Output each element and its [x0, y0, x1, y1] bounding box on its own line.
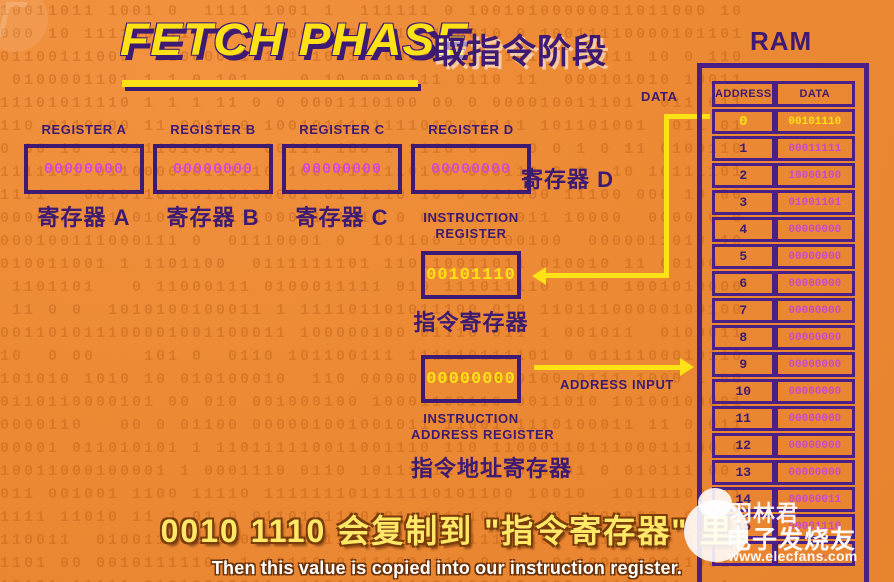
instruction-register-value-box: 00101110 — [421, 251, 521, 299]
caption-english: Then this value is copied into our instr… — [0, 558, 894, 579]
ram-table-row[interactable]: 1100000000 — [712, 406, 855, 431]
register-c: REGISTER C 00000000 寄存器 C — [282, 122, 402, 232]
register-d-value-box: 00000000 — [411, 144, 531, 194]
instruction-register: INSTRUCTION REGISTER 00101110 指令寄存器 — [411, 210, 531, 337]
ram-cell-address: 1 — [712, 136, 775, 161]
instruction-address-register-label-line1: INSTRUCTION — [411, 411, 531, 427]
register-a-label: REGISTER A — [24, 122, 144, 137]
register-c-value: 00000000 — [302, 161, 382, 178]
register-a-chinese-label: 寄存器 A — [24, 200, 144, 232]
ram-cell-address: 7 — [712, 298, 775, 323]
register-a-value: 00000000 — [44, 161, 124, 178]
title-chinese: 取指令阶段 — [432, 24, 607, 73]
ram-cell-address: 13 — [712, 460, 775, 485]
ram-cell-address: 11 — [712, 406, 775, 431]
instruction-register-label-line1: INSTRUCTION — [411, 210, 531, 226]
ram-cell-data: 00000000 — [775, 460, 855, 485]
ram-table-row[interactable]: 1200000000 — [712, 433, 855, 458]
ram-table-row[interactable]: 301001101 — [712, 190, 855, 215]
ram-cell-address: 8 — [712, 325, 775, 350]
register-b: REGISTER B 00000000 寄存器 B — [153, 122, 273, 232]
ram-cell-address: 5 — [712, 244, 775, 269]
register-b-chinese-label: 寄存器 B — [153, 200, 273, 232]
title-block: FETCH PHASE — [120, 14, 449, 66]
address-input-arrowhead — [680, 358, 694, 376]
register-a: REGISTER A 00000000 寄存器 A — [24, 122, 144, 232]
instruction-register-chinese-label: 指令寄存器 — [411, 305, 531, 337]
ram-table-row[interactable]: 1000000000 — [712, 379, 855, 404]
ram-cell-address: 12 — [712, 433, 775, 458]
ram-cell-data: 00000000 — [775, 433, 855, 458]
ram-header-address: ADDRESS — [712, 81, 775, 107]
title-underline — [122, 80, 418, 87]
ram-cell-address: 9 — [712, 352, 775, 377]
register-c-value-box: 00000000 — [282, 144, 402, 194]
ram-header-data: DATA — [775, 81, 855, 107]
register-d-chinese-label: 寄存器 D — [521, 162, 614, 194]
data-wire-label: DATA — [641, 89, 678, 104]
caption-chinese: 0010 1110 会复制到 "指令寄存器" 里 — [0, 506, 894, 552]
register-d-label: REGISTER D — [411, 122, 531, 137]
ram-cell-data: 00000000 — [775, 379, 855, 404]
ram-table-row[interactable]: 210000100 — [712, 163, 855, 188]
ram-title: RAM — [750, 26, 812, 57]
data-wire-arrowhead — [532, 267, 546, 285]
title-english: FETCH PHASE — [120, 14, 468, 66]
ram-cell-data: 00000000 — [775, 352, 855, 377]
corner-logo-watermark — [0, 0, 48, 52]
register-c-label: REGISTER C — [282, 122, 402, 137]
register-a-value-box: 00000000 — [24, 144, 144, 194]
instruction-address-register-chinese-label: 指令地址寄存器 — [411, 451, 531, 483]
ram-cell-data: 00000000 — [775, 325, 855, 350]
instruction-address-register-label-line2: ADDRESS REGISTER — [411, 427, 531, 443]
ram-table-row[interactable]: 100011111 — [712, 136, 855, 161]
ram-table: ADDRESSDATA00010111010001111121000010030… — [712, 79, 855, 568]
ram-table-row[interactable]: 400000000 — [712, 217, 855, 242]
ram-cell-data: 00000000 — [775, 271, 855, 296]
ram-cell-address: 6 — [712, 271, 775, 296]
ram-cell-data: 00000000 — [775, 217, 855, 242]
register-d-value: 00000000 — [431, 161, 511, 178]
ram-cell-data: 00000000 — [775, 244, 855, 269]
address-input-wire — [534, 365, 682, 370]
register-b-value: 00000000 — [173, 161, 253, 178]
register-d: REGISTER D 00000000 寄存器 D — [411, 122, 531, 194]
data-wire-vertical — [664, 114, 669, 278]
ram-cell-data: 01001101 — [775, 190, 855, 215]
ram-cell-address: 3 — [712, 190, 775, 215]
ram-table-row[interactable]: 600000000 — [712, 271, 855, 296]
ram-cell-data: 00101110 — [775, 109, 855, 134]
ram-cell-address: 0 — [712, 109, 775, 134]
ram-cell-address: 2 — [712, 163, 775, 188]
address-input-wire-label: ADDRESS INPUT — [560, 377, 674, 392]
instruction-address-register: 00000000 INSTRUCTION ADDRESS REGISTER 指令… — [411, 348, 531, 483]
ram-cell-data: 00000000 — [775, 298, 855, 323]
ram-table-row[interactable]: 000101110 — [712, 109, 855, 134]
ram-table-row[interactable]: 1300000000 — [712, 460, 855, 485]
instruction-address-register-value: 00000000 — [426, 370, 516, 389]
ram-cell-data: 00011111 — [775, 136, 855, 161]
ram-table-header-row: ADDRESSDATA — [712, 81, 855, 107]
ram-cell-address: 4 — [712, 217, 775, 242]
ram-table-row[interactable]: 700000000 — [712, 298, 855, 323]
ram-table-row[interactable]: 500000000 — [712, 244, 855, 269]
ram-cell-data: 00000000 — [775, 406, 855, 431]
instruction-address-register-value-box: 00000000 — [421, 355, 521, 403]
ram-table-row[interactable]: 800000000 — [712, 325, 855, 350]
register-b-label: REGISTER B — [153, 122, 273, 137]
instruction-register-value: 00101110 — [426, 266, 516, 285]
register-c-chinese-label: 寄存器 C — [282, 200, 402, 232]
ram-table-row[interactable]: 900000000 — [712, 352, 855, 377]
instruction-register-label-line2: REGISTER — [411, 226, 531, 242]
ram-cell-data: 10000100 — [775, 163, 855, 188]
ram-cell-address: 10 — [712, 379, 775, 404]
data-wire-horizontal-bottom — [546, 273, 669, 278]
register-b-value-box: 00000000 — [153, 144, 273, 194]
